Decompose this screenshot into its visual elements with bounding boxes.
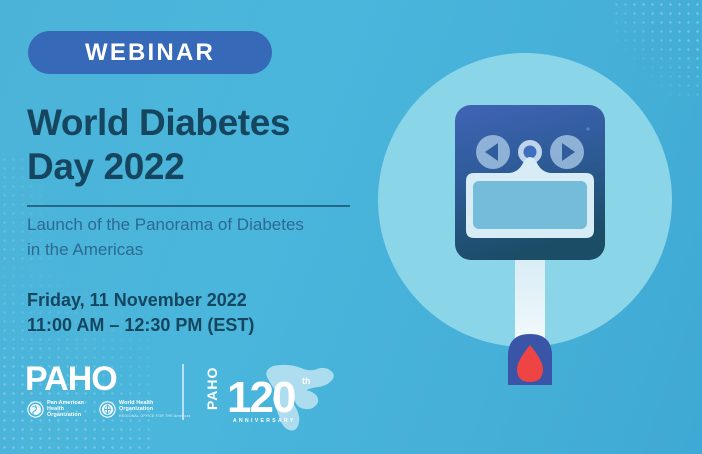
anniversary-number: 120 (227, 373, 295, 422)
title-line-1: World Diabetes (27, 101, 372, 145)
event-datetime: Friday, 11 November 2022 11:00 AM – 12:3… (27, 288, 367, 338)
glucose-meter-illustration (440, 95, 620, 385)
who-emblem-icon (99, 401, 116, 418)
webinar-poster: WEBINAR World Diabetes Day 2022 Launch o… (0, 0, 702, 454)
event-time: 11:00 AM – 12:30 PM (EST) (27, 313, 367, 338)
title-divider (27, 205, 350, 207)
dot-pattern-top-right-icon (612, 0, 702, 100)
webinar-badge-label: WEBINAR (85, 39, 215, 67)
anniversary-ordinal: th (302, 376, 311, 386)
paho-wordmark: PAHO (25, 362, 117, 396)
anniversary-caption: ANNIVERSARY (233, 418, 296, 424)
world-health-line-3: REGIONAL OFFICE FOR THE Americas (119, 413, 191, 419)
page-title: World Diabetes Day 2022 (27, 101, 372, 189)
title-line-2: Day 2022 (27, 145, 372, 189)
meter-button-left[interactable] (476, 135, 510, 169)
world-health-organization-logo: World Health Organization REGIONAL OFFIC… (99, 400, 191, 419)
subtitle-line-2: in the Americas (27, 237, 367, 262)
anniversary-vertical-paho: PAHO (204, 367, 220, 410)
fingertip-with-blood-drop (508, 334, 552, 385)
pan-american-health-organization-logo: Pan American Health Organization (27, 400, 84, 419)
subtitle: Launch of the Panorama of Diabetes in th… (27, 212, 367, 262)
meter-button-right[interactable] (550, 135, 584, 169)
event-date: Friday, 11 November 2022 (27, 288, 367, 313)
logo-lockup: PAHO Pan American Health Organization (25, 362, 335, 442)
world-health-line-2: Organization (119, 406, 191, 412)
pan-american-line-3: Organization (47, 412, 84, 418)
subtitle-line-1: Launch of the Panorama of Diabetes (27, 212, 367, 237)
paho-globe-icon (27, 401, 44, 418)
logo-separator (182, 364, 184, 420)
paho-120th-anniversary-logo: PAHO 120 th ANNIVERSARY (203, 362, 338, 432)
webinar-badge: WEBINAR (28, 31, 272, 74)
